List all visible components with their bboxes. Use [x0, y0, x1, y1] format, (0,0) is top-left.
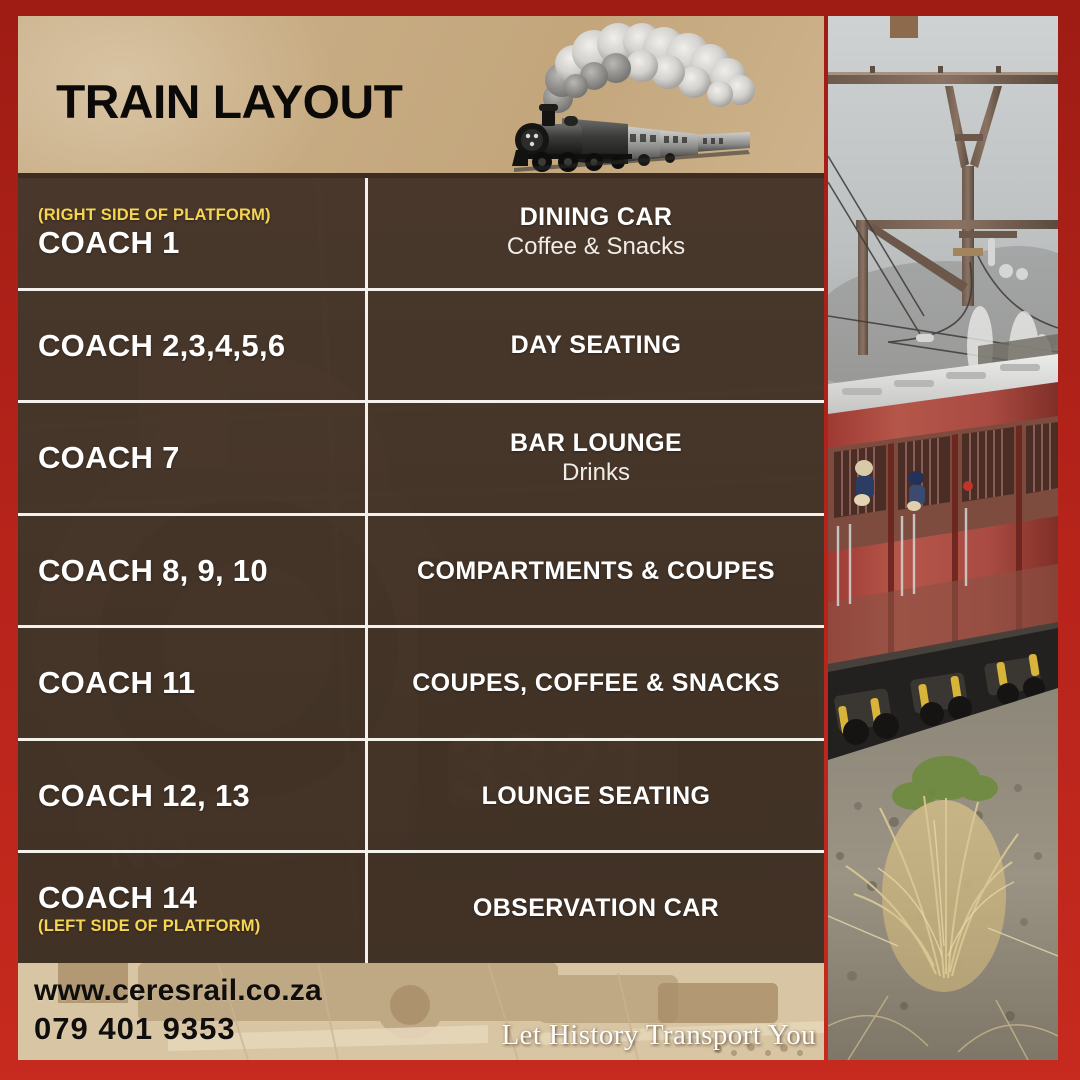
coach-cell: COACH 2,3,4,5,6: [18, 291, 368, 401]
coach-label: COACH 12, 13: [38, 779, 365, 812]
table-row: COACH 12, 13 LOUNGE SEATING: [18, 741, 824, 854]
coach-label: COACH 14: [38, 881, 365, 914]
platform-side-note: (RIGHT SIDE OF PLATFORM): [38, 206, 365, 224]
coach-cell: COACH 11: [18, 628, 368, 738]
service-cell: DAY SEATING: [368, 291, 824, 401]
coach-cell: COACH 14 (LEFT SIDE OF PLATFORM): [18, 853, 368, 963]
service-detail: Coffee & Snacks: [507, 233, 685, 262]
table-row: COACH 14 (LEFT SIDE OF PLATFORM) OBSERVA…: [18, 853, 824, 963]
coach-cell: (RIGHT SIDE OF PLATFORM) COACH 1: [18, 178, 368, 288]
coach-label: COACH 2,3,4,5,6: [38, 329, 365, 362]
service-name: DINING CAR: [520, 203, 673, 231]
service-name: LOUNGE SEATING: [482, 782, 711, 810]
table-row: (RIGHT SIDE OF PLATFORM) COACH 1 DINING …: [18, 178, 824, 291]
phone-text[interactable]: 079 401 9353: [34, 1010, 322, 1048]
service-cell: DINING CAR Coffee & Snacks: [368, 178, 824, 288]
table-row: COACH 11 COUPES, COFFEE & SNACKS: [18, 628, 824, 741]
coach-label: COACH 11: [38, 666, 365, 699]
service-cell: COUPES, COFFEE & SNACKS: [368, 628, 824, 738]
service-detail: Drinks: [562, 459, 630, 488]
platform-side-note: (LEFT SIDE OF PLATFORM): [38, 917, 365, 935]
service-name: COUPES, COFFEE & SNACKS: [412, 669, 780, 697]
footer-contact: www.ceresrail.co.za 079 401 9353: [34, 973, 322, 1047]
service-cell: COMPARTMENTS & COUPES: [368, 516, 824, 626]
service-name: DAY SEATING: [511, 331, 682, 359]
table-row: COACH 8, 9, 10 COMPARTMENTS & COUPES: [18, 516, 824, 629]
steam-locomotive-icon: [498, 20, 818, 175]
service-cell: BAR LOUNGE Drinks: [368, 403, 824, 513]
table-row: COACH 2,3,4,5,6 DAY SEATING: [18, 291, 824, 404]
coach-cell: COACH 7: [18, 403, 368, 513]
service-cell: OBSERVATION CAR: [368, 853, 824, 963]
coach-label: COACH 7: [38, 441, 365, 474]
coach-cell: COACH 8, 9, 10: [18, 516, 368, 626]
page-title: TRAIN LAYOUT: [56, 74, 402, 129]
coach-label: COACH 1: [38, 226, 365, 259]
poster-footer: www.ceresrail.co.za 079 401 9353 Let His…: [18, 963, 824, 1060]
table-row: COACH 7 BAR LOUNGE Drinks: [18, 403, 824, 516]
service-name: COMPARTMENTS & COUPES: [417, 557, 775, 585]
left-panel: TRAIN LAYOUT: [18, 16, 824, 1060]
service-name: BAR LOUNGE: [510, 429, 682, 457]
heritage-train-photo: [828, 16, 1058, 1060]
coach-table: 3321 NO (RIGHT SIDE OF PLATFORM) COACH 1: [18, 178, 824, 963]
service-name: OBSERVATION CAR: [473, 894, 719, 922]
coach-label: COACH 8, 9, 10: [38, 554, 365, 587]
poster-header: TRAIN LAYOUT: [18, 16, 824, 178]
website-text[interactable]: www.ceresrail.co.za: [34, 973, 322, 1010]
poster-canvas: TRAIN LAYOUT: [0, 0, 1080, 1080]
coach-cell: COACH 12, 13: [18, 741, 368, 851]
service-cell: LOUNGE SEATING: [368, 741, 824, 851]
tagline-text: Let History Transport You: [501, 1019, 816, 1052]
